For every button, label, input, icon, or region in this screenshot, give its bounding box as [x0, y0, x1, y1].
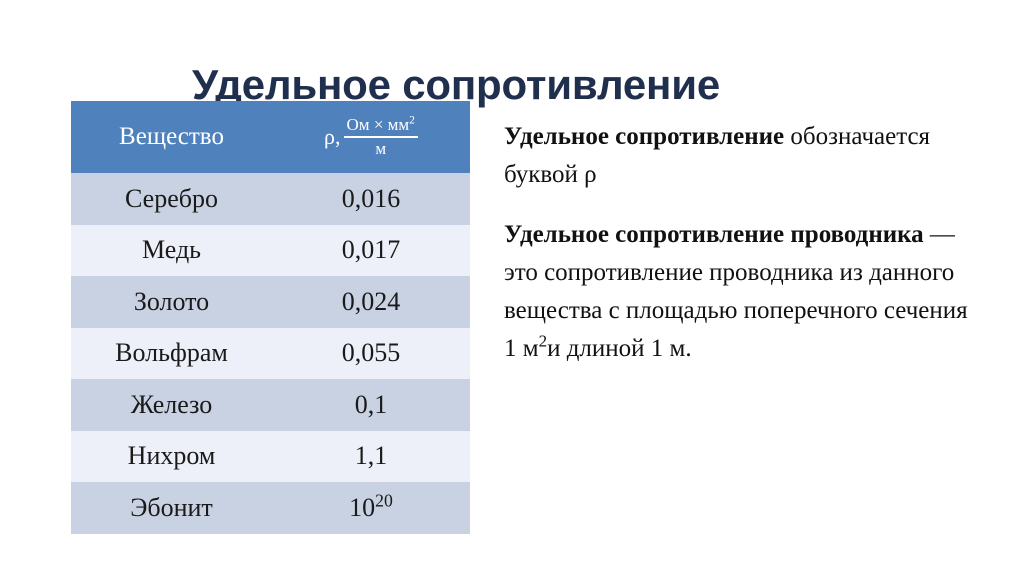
table-row: Железо 0,1 — [71, 379, 470, 431]
definition-term-conductor-resistivity: Удельное сопротивление проводника — [504, 221, 924, 248]
cell-substance: Эбонит — [71, 482, 272, 534]
resistivity-table: Вещество ρ, Ом × мм2 м Серебро 0,016 — [71, 101, 470, 534]
cell-substance: Серебро — [71, 173, 272, 225]
unit-fraction-numerator: Ом × мм2 — [344, 115, 418, 138]
unit-numerator-text: Ом × мм — [347, 115, 410, 134]
column-header-substance: Вещество — [71, 101, 272, 173]
slide-canvas: Удельное сопротивление Вещество ρ, Ом × … — [0, 0, 1024, 574]
unit-fraction-denominator: м — [375, 138, 386, 159]
cell-substance: Золото — [71, 276, 272, 328]
cell-substance: Железо — [71, 379, 272, 431]
resistivity-unit-expression: ρ, Ом × мм2 м — [324, 115, 418, 158]
table-row: Нихром 1,1 — [71, 431, 470, 483]
table-row: Золото 0,024 — [71, 276, 470, 328]
rho-symbol-label: ρ, — [324, 126, 340, 148]
column-header-resistivity: ρ, Ом × мм2 м — [272, 101, 470, 173]
table-header: Вещество ρ, Ом × мм2 м — [71, 101, 470, 173]
cell-resistivity: 0,017 — [272, 225, 470, 277]
definition-paragraph-conductor: Удельное сопротивление проводника — это … — [504, 216, 974, 368]
cell-substance: Медь — [71, 225, 272, 277]
definition-conductor-rest-b: и длиной 1 м. — [547, 335, 692, 362]
table-header-row: Вещество ρ, Ом × мм2 м — [71, 101, 470, 173]
cell-resistivity: 0,016 — [272, 173, 470, 225]
cell-resistivity-exponent: 20 — [375, 490, 393, 510]
definition-paragraph-symbol: Удельное сопротивление обозначается букв… — [504, 118, 974, 194]
unit-numerator-exponent: 2 — [409, 114, 415, 127]
cell-resistivity: 1,1 — [272, 431, 470, 483]
cell-substance: Нихром — [71, 431, 272, 483]
cell-resistivity: 0,1 — [272, 379, 470, 431]
table-row: Вольфрам 0,055 — [71, 328, 470, 380]
cell-substance: Вольфрам — [71, 328, 272, 380]
cell-resistivity: 0,024 — [272, 276, 470, 328]
definition-term-resistivity: Удельное сопротивление — [504, 123, 784, 150]
cell-resistivity-mantissa: 10 — [349, 493, 375, 522]
table-row: Медь 0,017 — [71, 225, 470, 277]
table-row: Серебро 0,016 — [71, 173, 470, 225]
unit-fraction: Ом × мм2 м — [344, 115, 418, 158]
cell-resistivity: 1020 — [272, 482, 470, 534]
table-row: Эбонит 1020 — [71, 482, 470, 534]
definition-area-exponent: 2 — [539, 332, 548, 351]
explanation-text-block: Удельное сопротивление обозначается букв… — [504, 118, 974, 368]
table-body: Серебро 0,016 Медь 0,017 Золото 0,024 Во… — [71, 173, 470, 534]
cell-resistivity: 0,055 — [272, 328, 470, 380]
